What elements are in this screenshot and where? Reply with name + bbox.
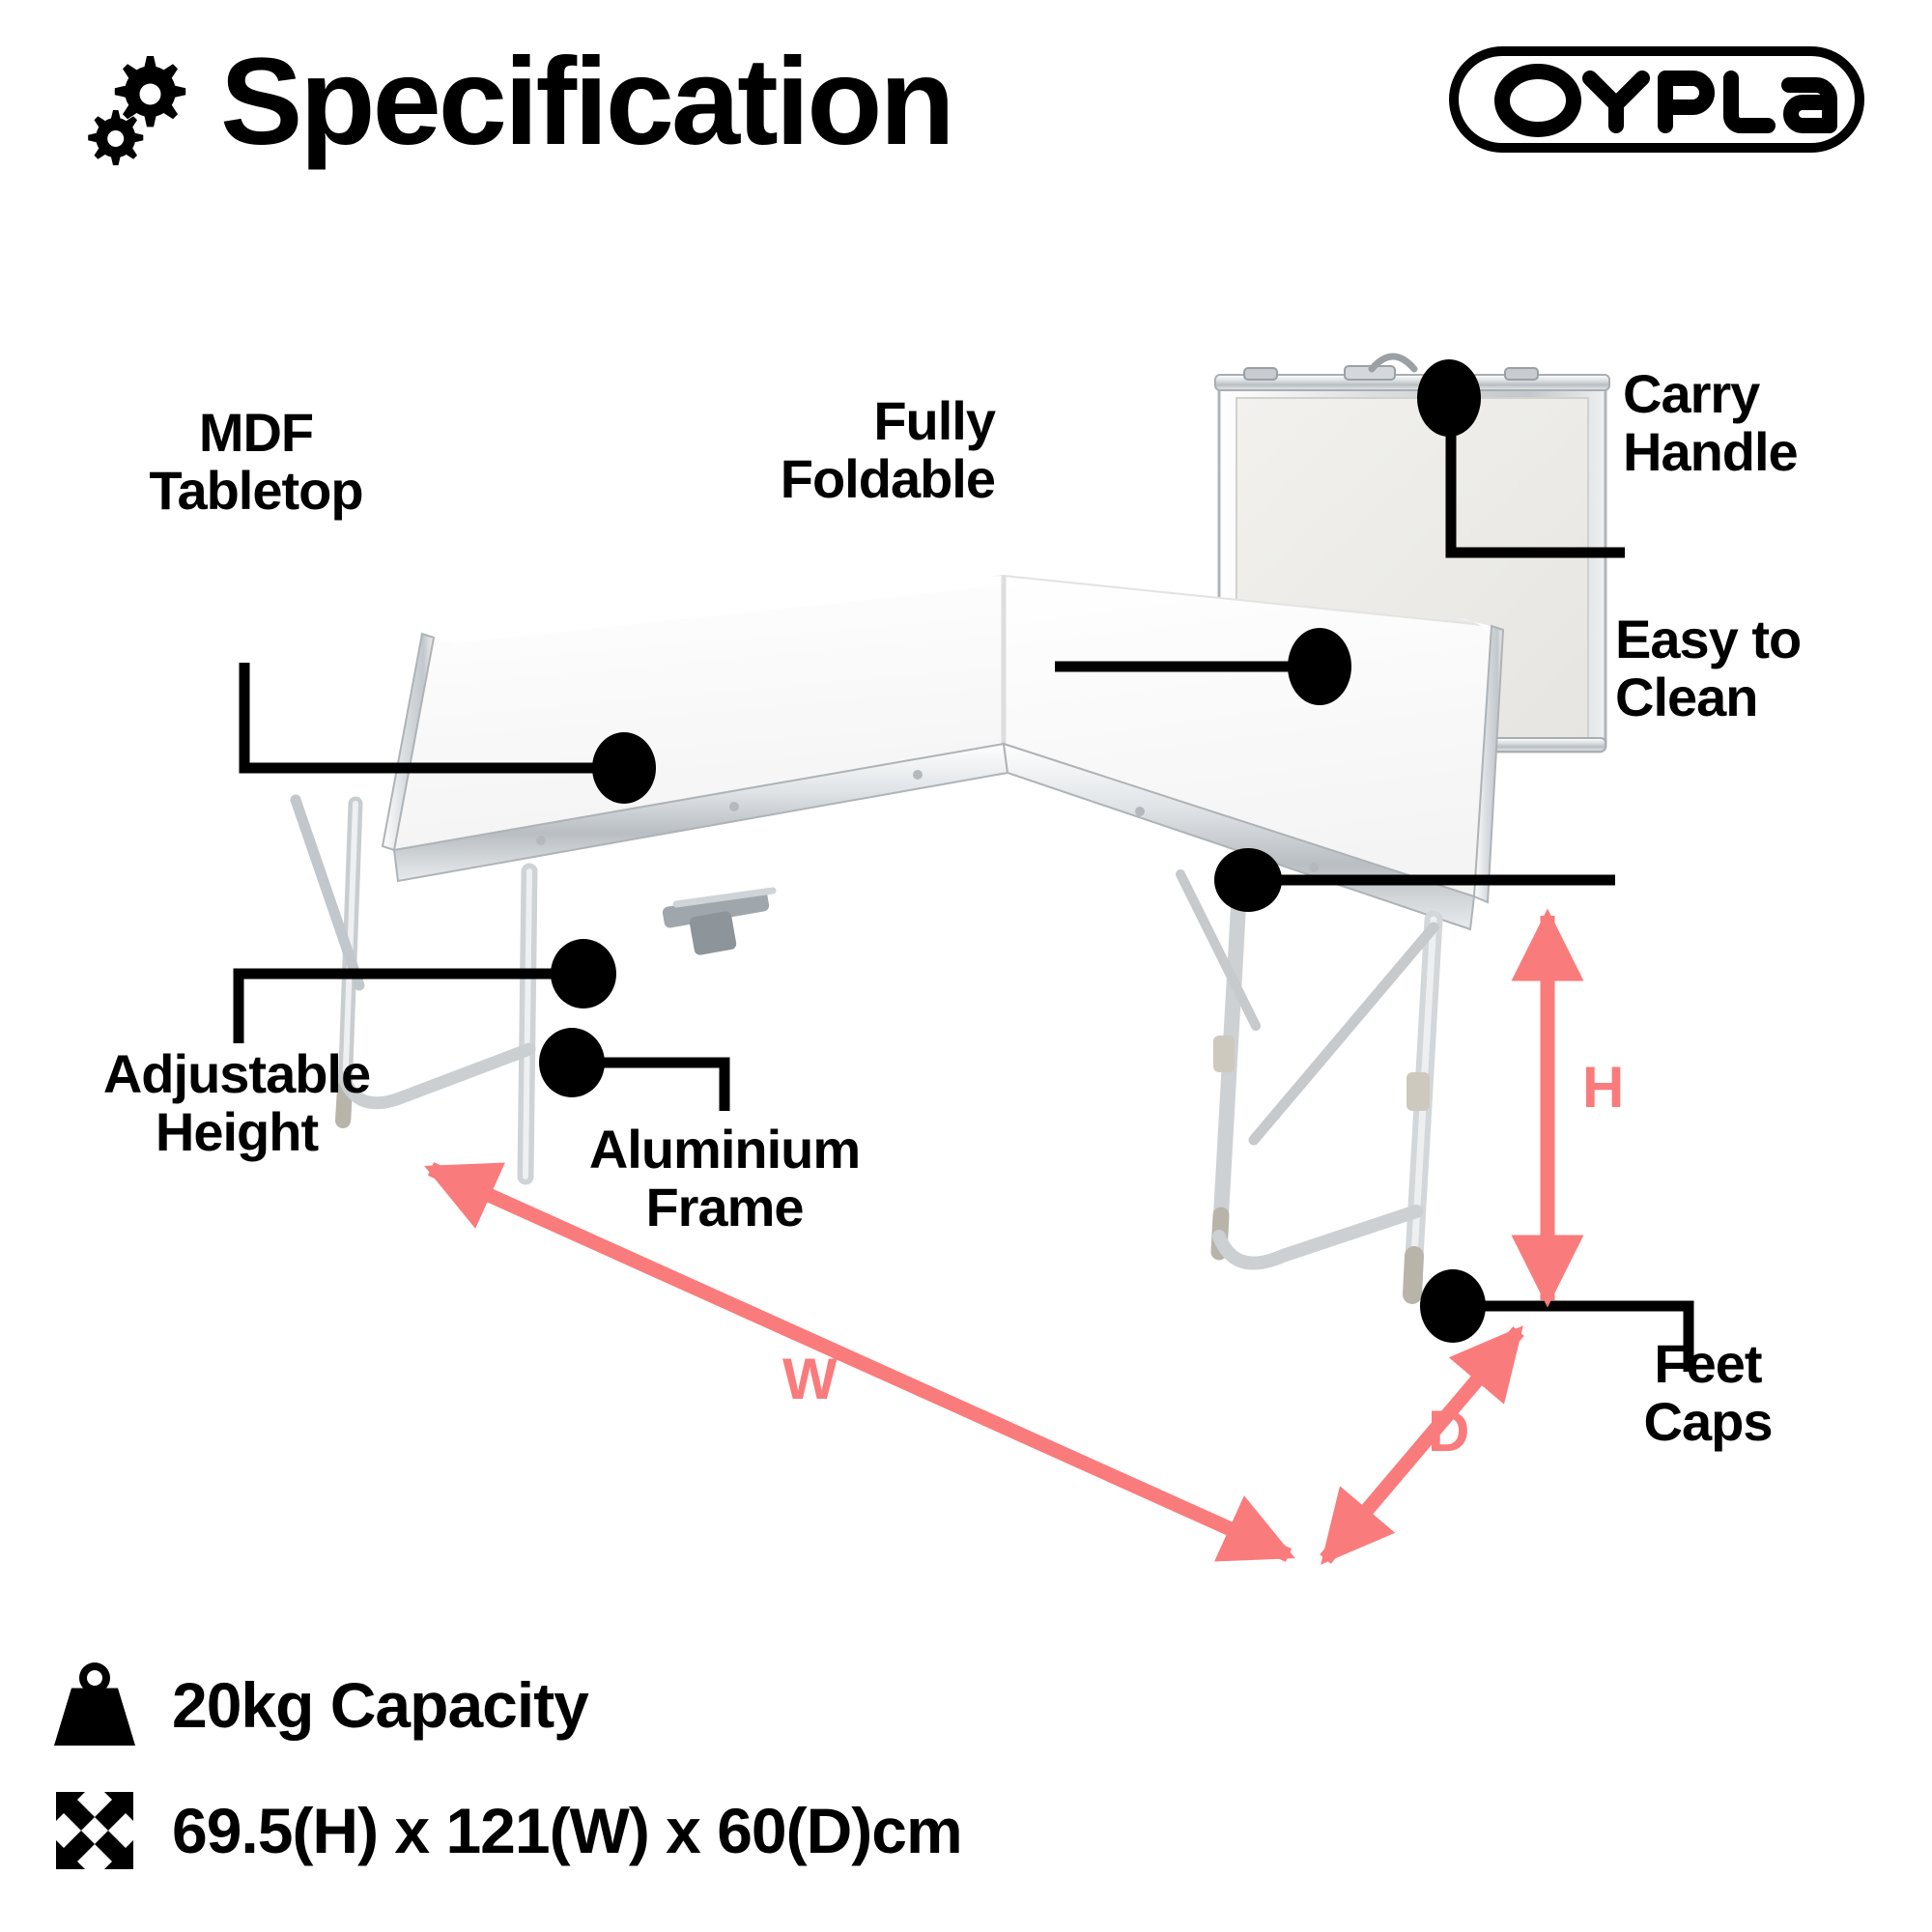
callout-mdf-tabletop: MDF Tabletop <box>77 404 435 521</box>
dot-easy-to-clean <box>1214 848 1282 912</box>
callout-fully-foldable: Fully Foldable <box>541 392 995 509</box>
spec-text-dimensions: 69.5(H) x 121(W) x 60(D)cm <box>172 1794 962 1867</box>
callout-adjustable-height: Adjustable Height <box>19 1045 454 1162</box>
dimension-label-depth: D <box>1428 1403 1469 1461</box>
spec-text-capacity: 20kg Capacity <box>172 1668 588 1742</box>
dimension-label-height: H <box>1582 1059 1624 1117</box>
spec-row-dimensions: 69.5(H) x 121(W) x 60(D)cm <box>39 1768 1294 1893</box>
dot-adjustable-height <box>551 939 616 1009</box>
depth-arrow <box>1325 1331 1519 1559</box>
dot-mdf-tabletop <box>592 732 656 804</box>
footer-specs: 20kg Capacity 69.5(H) x 121(W) x 60(D)cm <box>39 1642 1294 1893</box>
callout-easy-to-clean: Easy to Clean <box>1615 611 1924 727</box>
dot-feet-caps <box>1420 1269 1486 1343</box>
expand-arrows-icon <box>39 1775 151 1887</box>
callout-aluminium-frame: Aluminium Frame <box>522 1121 927 1237</box>
dot-fully-foldable <box>1288 628 1351 705</box>
dimension-label-width: W <box>782 1350 838 1408</box>
dot-carry-handle <box>1417 359 1481 437</box>
callout-feet-caps: Feet Caps <box>1573 1335 1843 1452</box>
spec-row-capacity: 20kg Capacity <box>39 1642 1294 1768</box>
weight-icon <box>39 1649 151 1761</box>
dimension-arrows <box>431 916 1548 1559</box>
dot-aluminium-frame <box>539 1028 605 1097</box>
callout-carry-handle: Carry Handle <box>1623 365 1932 482</box>
